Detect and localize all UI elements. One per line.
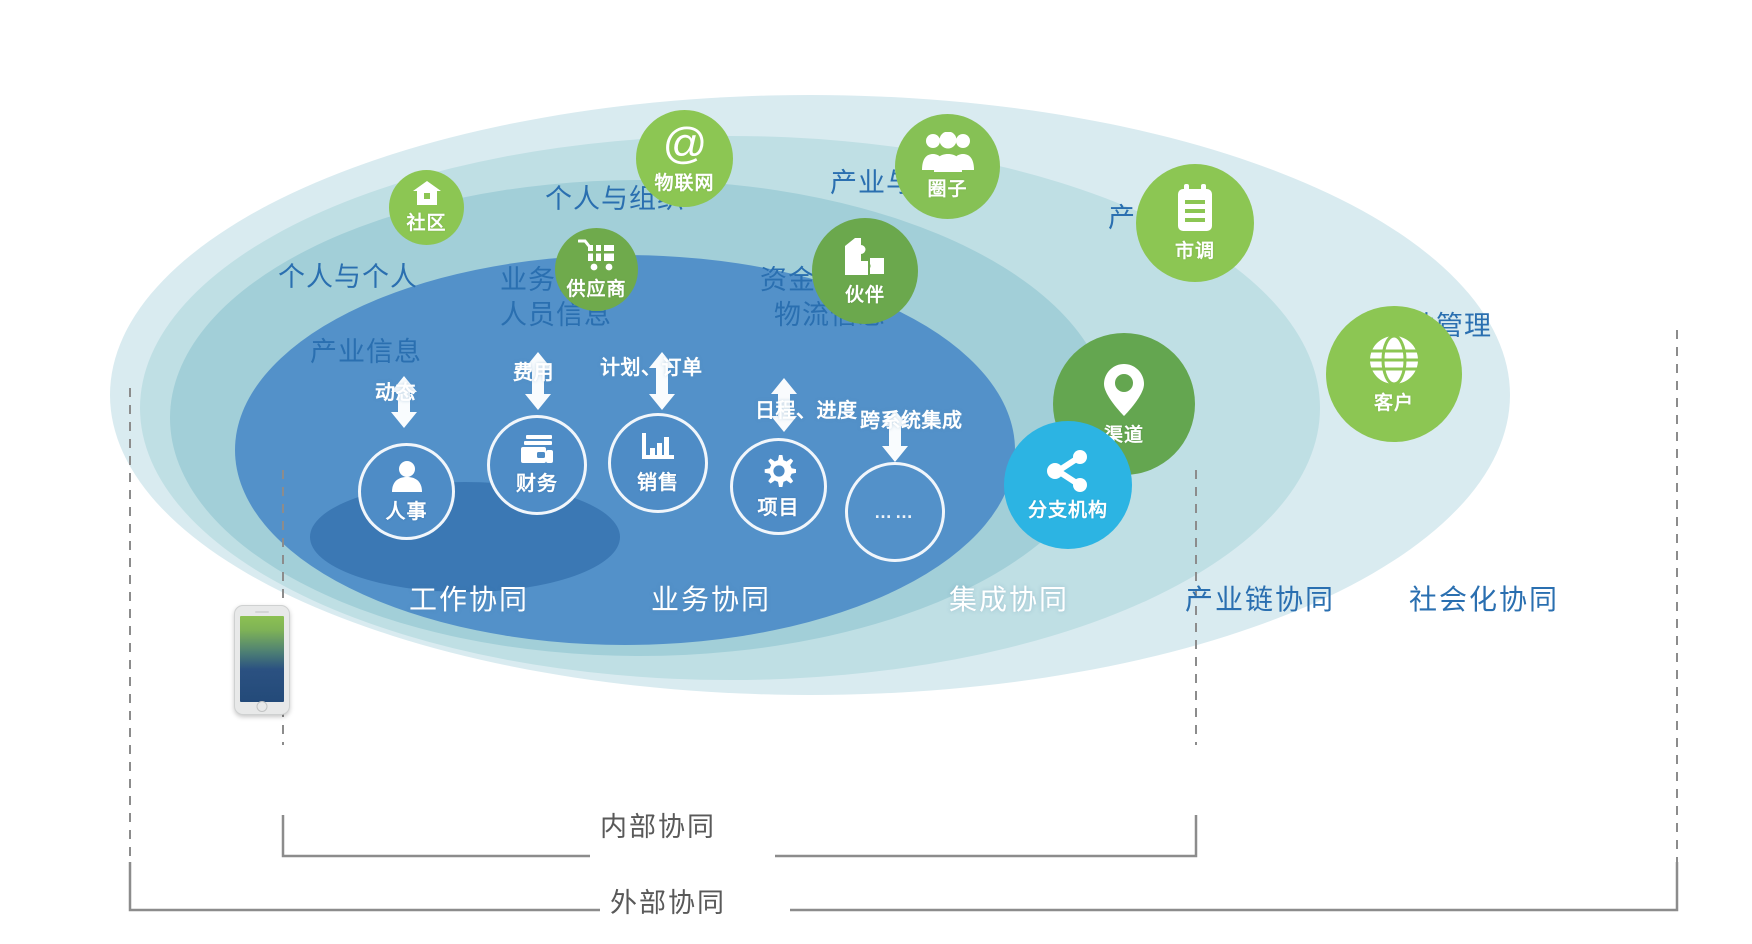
- clipboard-icon: [1174, 184, 1216, 234]
- arrow-hr: [391, 376, 417, 428]
- badge-customer-label: 客户: [1374, 388, 1414, 415]
- gear-icon: [762, 454, 796, 488]
- puzzle-icon: [842, 236, 888, 278]
- module-project-label: 项目: [758, 491, 800, 520]
- module-sales[interactable]: 销售: [608, 413, 708, 513]
- people-icon: [921, 132, 975, 172]
- phone-speaker: [255, 611, 269, 613]
- badge-customer[interactable]: 客户: [1326, 306, 1462, 442]
- module-finance[interactable]: 财务: [487, 415, 587, 515]
- badge-community[interactable]: 社区: [389, 170, 464, 245]
- mobile-device[interactable]: [234, 605, 290, 715]
- badge-partner-label: 伙伴: [845, 280, 885, 307]
- pin-icon: [1102, 362, 1146, 418]
- badge-survey[interactable]: 市调: [1136, 164, 1254, 282]
- badge-iot-label: 物联网: [654, 168, 714, 195]
- badge-partner[interactable]: 伙伴: [812, 218, 918, 324]
- barchart-icon: [640, 431, 676, 463]
- arrow-project: [771, 378, 797, 432]
- house-icon: [412, 180, 442, 206]
- module-hr-label: 人事: [386, 495, 428, 524]
- badge-survey-label: 市调: [1175, 236, 1215, 263]
- module-sales-label: 销售: [637, 466, 679, 495]
- badge-circle-label: 圈子: [927, 174, 967, 201]
- module-finance-label: 财务: [516, 467, 558, 496]
- badge-circle[interactable]: 圈子: [895, 114, 1000, 219]
- module-more[interactable]: ……: [845, 462, 945, 562]
- badge-community-label: 社区: [406, 208, 446, 235]
- at-sign-icon: @: [662, 122, 708, 166]
- arrow-more: [882, 410, 908, 462]
- module-hr[interactable]: 人事: [358, 443, 455, 540]
- diagram-canvas: 个人与个人 个人与组织 产业与组织 产业与行业 公共管理 产业信息 业务信息 人…: [0, 0, 1752, 944]
- wallet-icon: [519, 434, 555, 464]
- cart-icon: [578, 238, 616, 272]
- share-icon: [1044, 449, 1092, 493]
- ellipsis-icon: ……: [874, 502, 916, 523]
- arrow-finance: [525, 352, 551, 410]
- globe-icon: [1368, 334, 1420, 386]
- arrow-sales: [649, 352, 675, 410]
- phone-home-button[interactable]: [257, 701, 268, 712]
- badge-iot[interactable]: @ 物联网: [636, 110, 733, 207]
- module-project[interactable]: 项目: [730, 438, 827, 535]
- badge-branch-label: 分支机构: [1028, 495, 1108, 522]
- svg-text:@: @: [662, 122, 707, 166]
- person-icon: [390, 460, 424, 492]
- badge-supplier[interactable]: 供应商: [555, 228, 638, 311]
- badge-branch[interactable]: 分支机构: [1004, 421, 1132, 549]
- phone-screen: [240, 616, 284, 702]
- badge-supplier-label: 供应商: [566, 274, 626, 301]
